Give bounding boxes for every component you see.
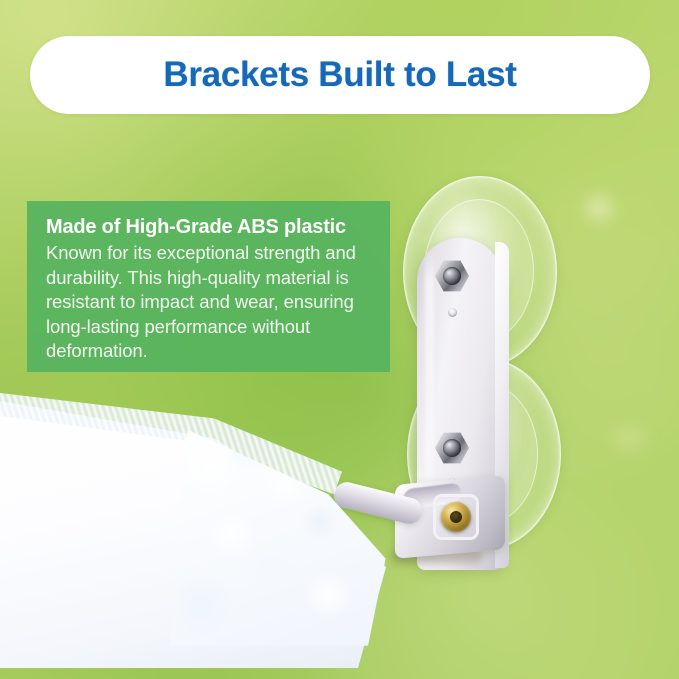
feature-heading: Made of High-Grade ABS plastic (46, 215, 370, 239)
product-marketing-image: Brackets Built to Last Made of High-Grad… (0, 0, 679, 679)
feature-body-text: Known for its exceptional strength and d… (46, 241, 370, 364)
title-banner: Brackets Built to Last (30, 36, 650, 114)
pin-hole-top (448, 308, 457, 317)
page-title: Brackets Built to Last (163, 55, 516, 95)
brass-pivot-screw-icon (441, 502, 471, 532)
microfiber-mop-pad (0, 388, 410, 679)
feature-callout-panel: Made of High-Grade ABS plastic Known for… (27, 201, 390, 372)
